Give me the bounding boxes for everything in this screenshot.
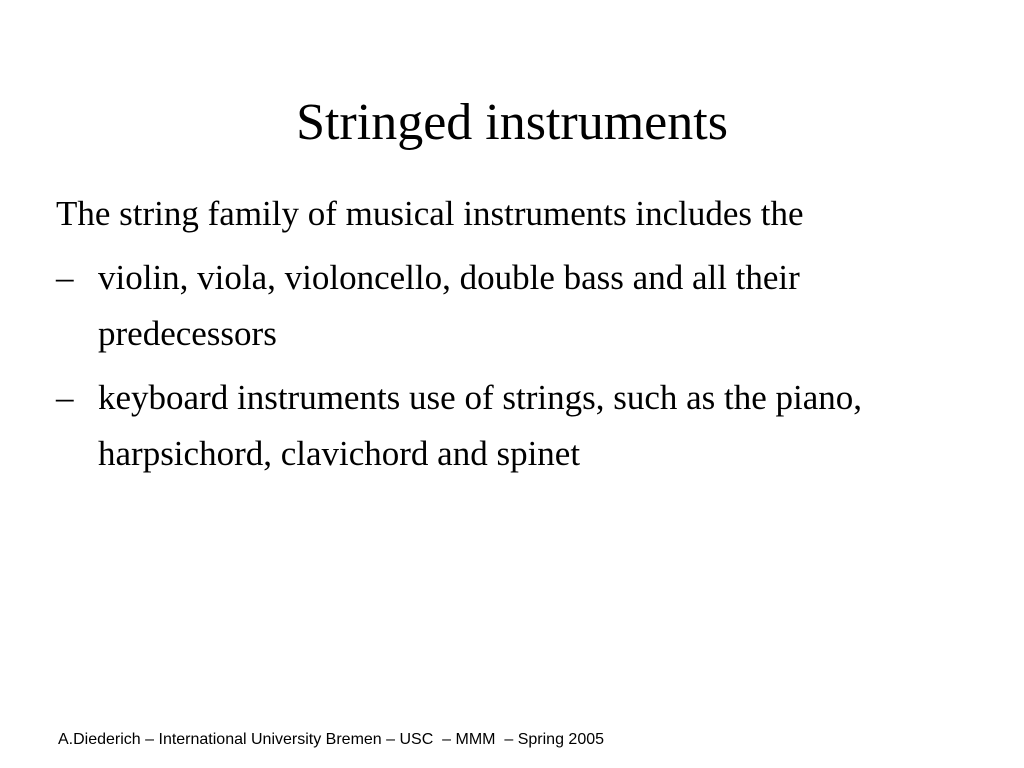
bullet-item-keyboards: – keyboard instruments use of strings, s… — [56, 370, 956, 482]
page-title: Stringed instruments — [0, 93, 1024, 153]
en-dash-bullet-icon: – — [56, 250, 98, 306]
bullet-item-strings: – violin, viola, violoncello, double bas… — [56, 250, 956, 362]
en-dash-bullet-icon: – — [56, 370, 98, 426]
bullet-item-keyboards-text: keyboard instruments use of strings, suc… — [98, 370, 956, 482]
bullet-item-strings-text: violin, viola, violoncello, double bass … — [98, 250, 956, 362]
body-paragraph-intro: The string family of musical instruments… — [56, 186, 956, 242]
slide-body: The string family of musical instruments… — [56, 186, 956, 490]
slide-footer: A.Diederich – International University B… — [58, 730, 604, 750]
body-paragraph-intro-text: The string family of musical instruments… — [56, 186, 956, 242]
presentation-slide: Stringed instruments The string family o… — [0, 0, 1024, 768]
